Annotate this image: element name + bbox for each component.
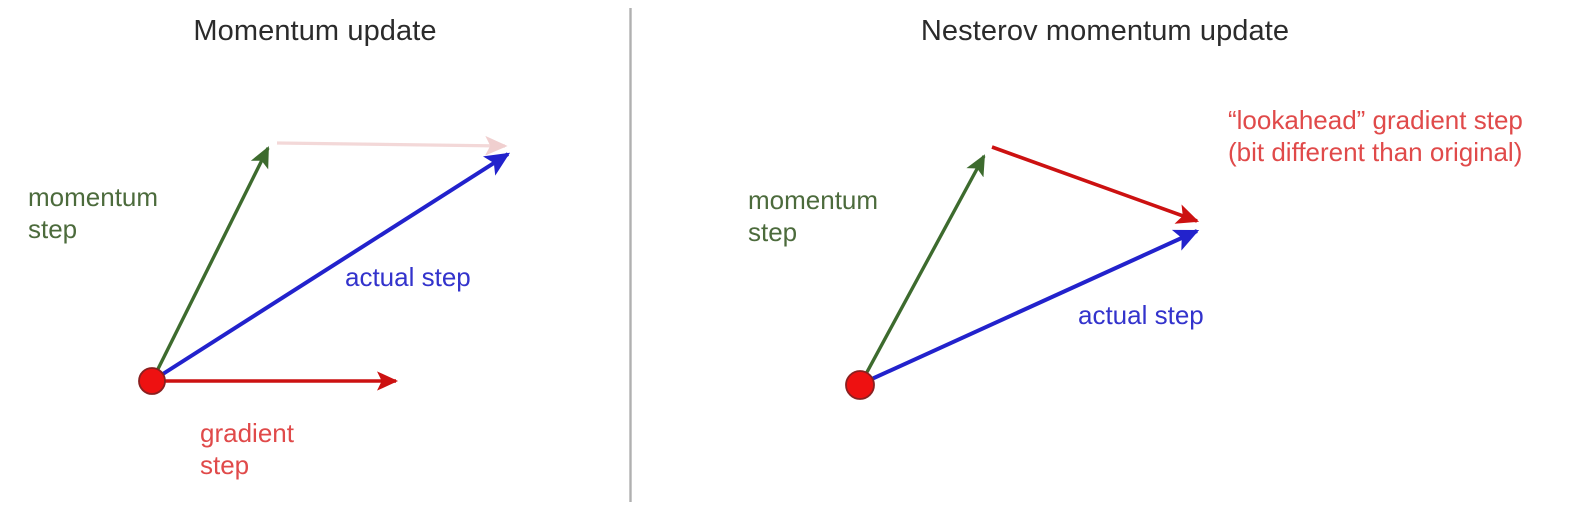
- label-actual-step-right: actual step: [1078, 300, 1204, 332]
- label-gradient-step-left: gradient step: [200, 418, 294, 481]
- panel-nesterov-momentum-update: Nesterov momentum update: [630, 0, 1580, 514]
- panel-title-momentum-update: Momentum update: [0, 14, 630, 49]
- panel-title-nesterov-momentum-update: Nesterov momentum update: [630, 14, 1580, 49]
- panel-momentum-update: Momentum update: [0, 0, 630, 514]
- label-momentum-step-left: momentum step: [28, 182, 158, 245]
- label-actual-step-left: actual step: [345, 262, 471, 294]
- label-momentum-step-right: momentum step: [748, 185, 878, 248]
- diagram-canvas: Momentum update momentum step gradient s…: [0, 0, 1580, 514]
- label-lookahead-gradient-step-right: “lookahead” gradient step (bit different…: [1228, 105, 1558, 168]
